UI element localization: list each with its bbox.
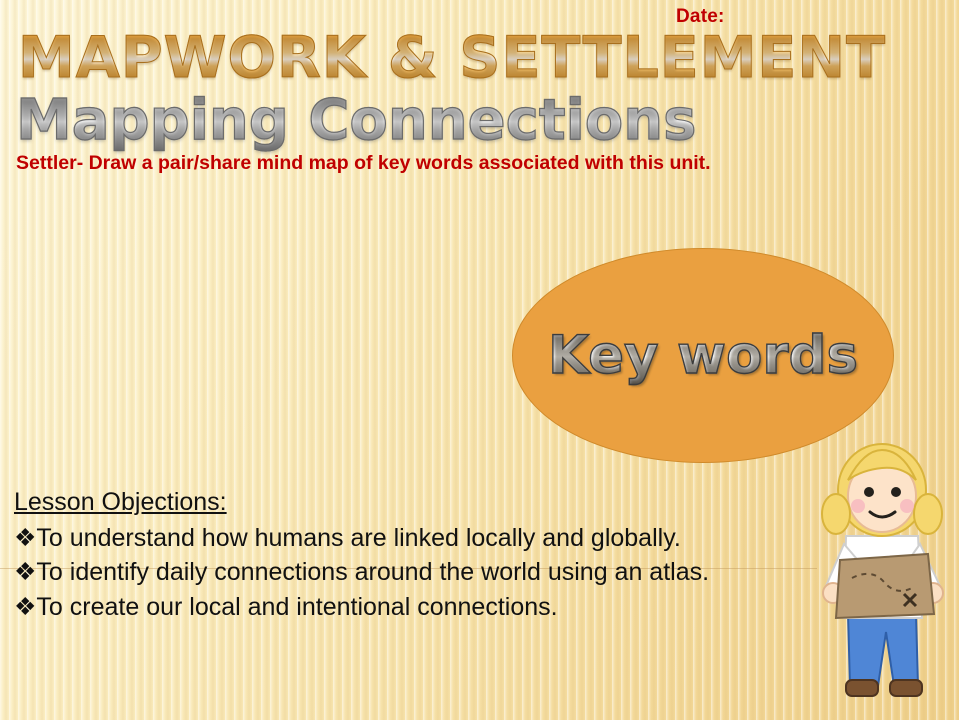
objective-item: ❖To create our local and intentional con… [14,590,814,625]
objective-item: ❖To identify daily connections around th… [14,555,814,590]
key-words-label: Key words [548,325,858,386]
girl-holding-map-illustration [806,418,959,720]
objective-item: ❖To understand how humans are linked loc… [14,521,814,556]
objectives-heading: Lesson Objections: [14,485,814,520]
starter-instruction: Settler- Draw a pair/share mind map of k… [16,150,876,176]
lesson-objectives: Lesson Objections: ❖To understand how hu… [14,485,814,624]
page-title: MAPWORK & SETTLEMENT [18,25,886,91]
page-subtitle: Mapping Connections [16,88,696,153]
